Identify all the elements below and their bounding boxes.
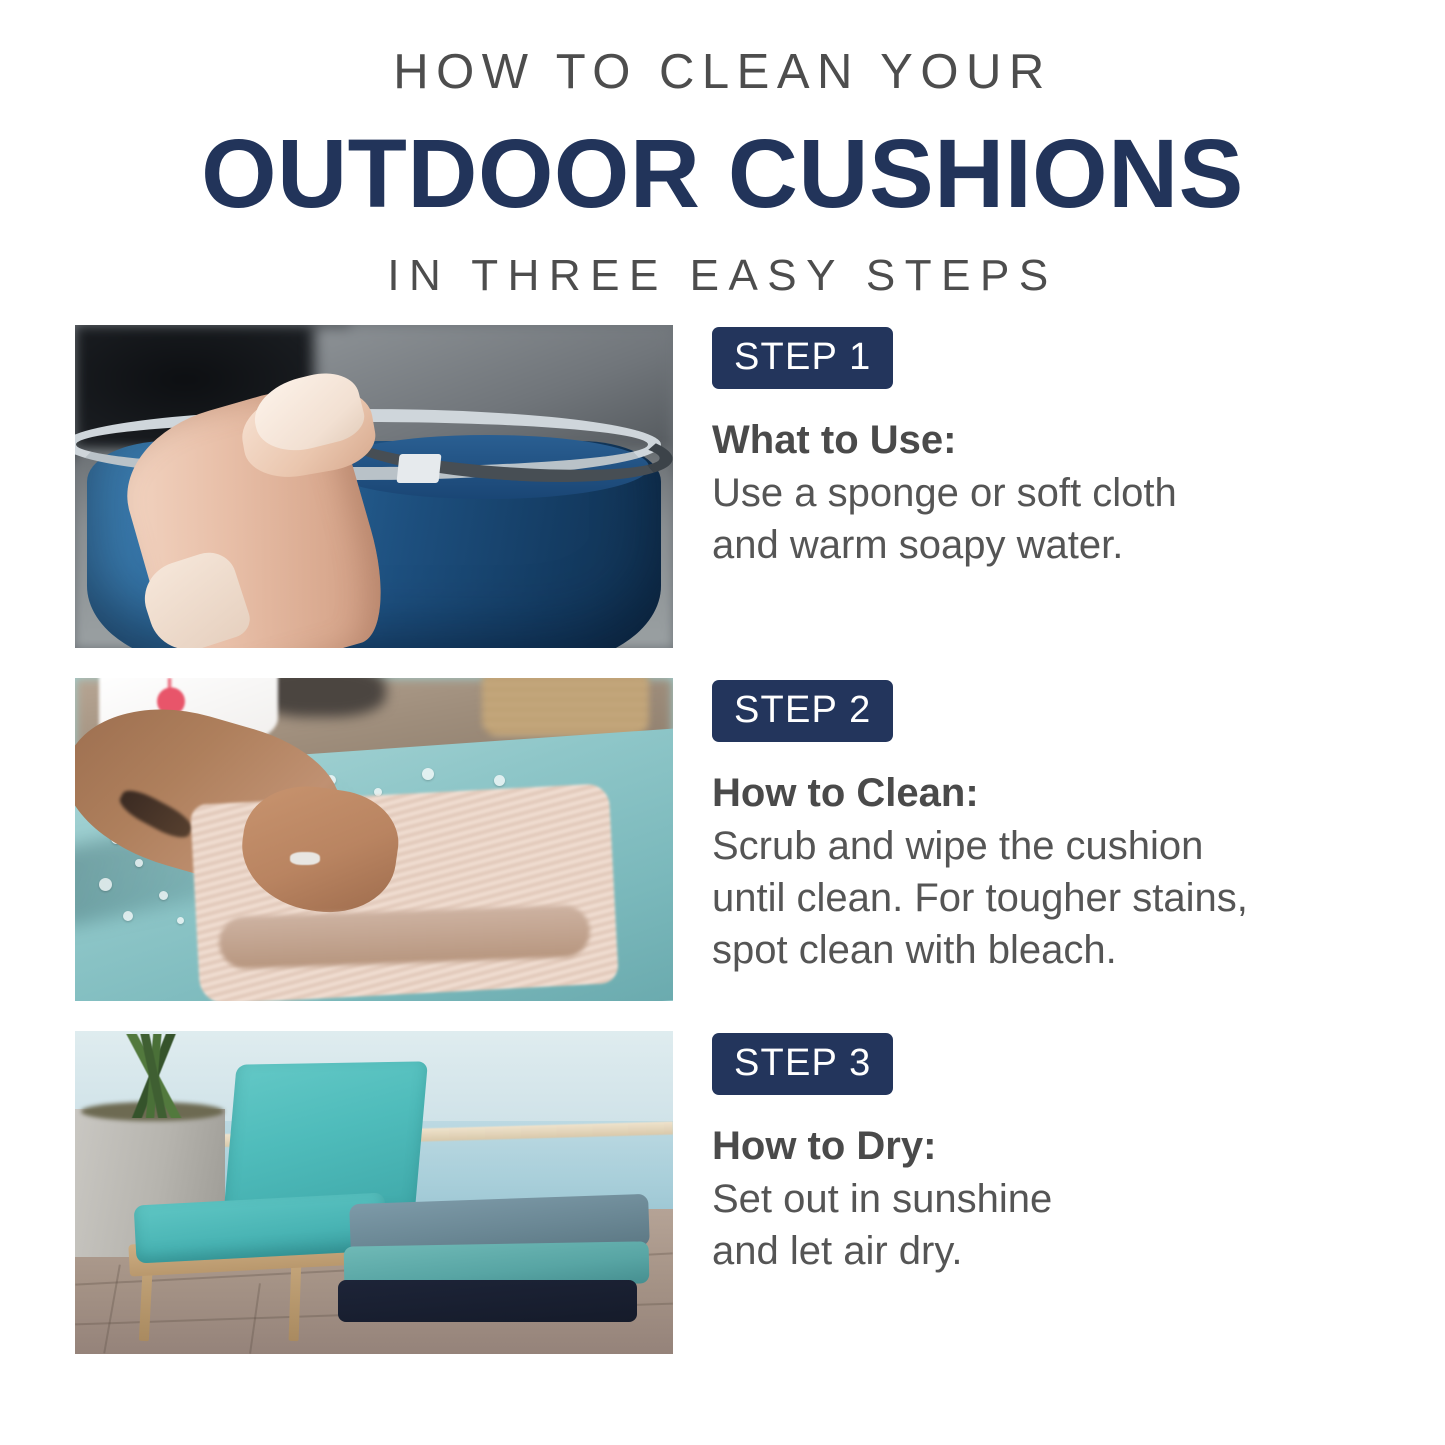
agave-plant [87,1034,219,1118]
water-droplet [159,891,168,900]
stacked-cushion-navy [338,1280,637,1322]
step-3-badge: STEP 3 [712,1033,893,1095]
body-line: Use a sponge or soft cloth [712,467,1352,519]
subtitle-text: IN THREE EASY STEPS [0,254,1445,298]
step-2-photo [75,678,673,1001]
eyebrow-text: HOW TO CLEAN YOUR [0,48,1445,97]
water-droplet [135,859,143,867]
step-row: STEP 3 How to Dry: Set out in sunshine a… [0,1031,1445,1354]
steps-list: STEP 1 What to Use: Use a sponge or soft… [0,325,1445,1384]
step-2-badge: STEP 2 [712,680,893,742]
step-1-text-column: STEP 1 What to Use: Use a sponge or soft… [712,327,1352,571]
infographic-page: HOW TO CLEAN YOUR OUTDOOR CUSHIONS IN TH… [0,0,1445,1445]
step-1-photo [75,325,673,648]
ring-shape [290,852,320,865]
step-row: STEP 1 What to Use: Use a sponge or soft… [0,325,1445,648]
water-droplet [494,775,505,786]
step-3-photo [75,1031,673,1354]
body-line: Set out in sunshine [712,1173,1352,1225]
body-line: until clean. For tougher stains, [712,872,1352,924]
step-row: STEP 2 How to Clean: Scrub and wipe the … [0,678,1445,1001]
page-title: OUTDOOR CUSHIONS [0,125,1445,222]
step-2-body: Scrub and wipe the cushion until clean. … [712,820,1352,976]
bucket-handle-clip-shape [396,454,441,483]
step-2-sub-heading: How to Clean: [712,768,1352,818]
body-line: and let air dry. [712,1225,1352,1277]
step-2-text-column: STEP 2 How to Clean: Scrub and wipe the … [712,680,1352,976]
water-droplet [177,917,184,924]
step-3-body: Set out in sunshine and let air dry. [712,1173,1352,1277]
step-1-body: Use a sponge or soft cloth and warm soap… [712,467,1352,571]
header: HOW TO CLEAN YOUR OUTDOOR CUSHIONS IN TH… [0,0,1445,298]
step-3-text-column: STEP 3 How to Dry: Set out in sunshine a… [712,1033,1352,1277]
step-3-sub-heading: How to Dry: [712,1121,1352,1171]
water-droplet [123,911,133,921]
step-1-sub-heading: What to Use: [712,415,1352,465]
step-1-badge: STEP 1 [712,327,893,389]
wicker-basket-shape [482,678,649,736]
body-line: Scrub and wipe the cushion [712,820,1352,872]
body-line: and warm soapy water. [712,519,1352,571]
body-line: spot clean with bleach. [712,924,1352,976]
